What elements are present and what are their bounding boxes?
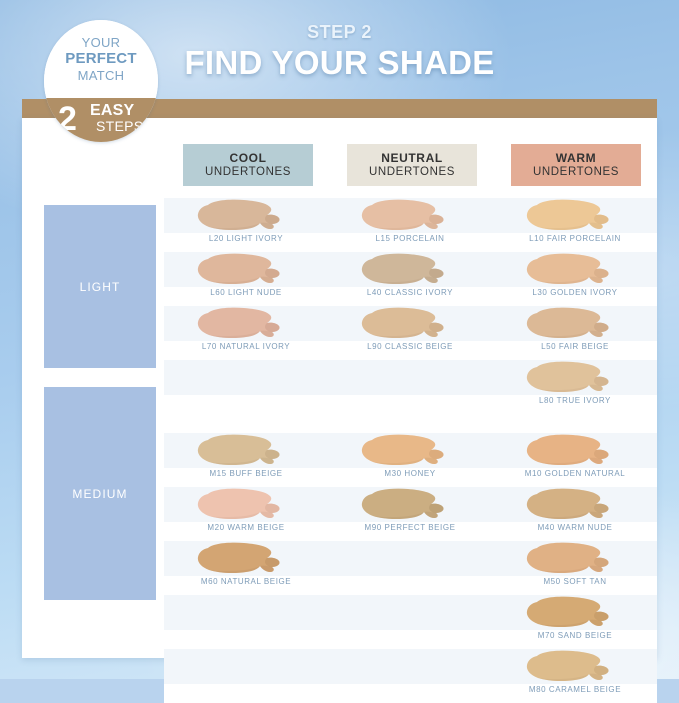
shade-cell[interactable]: M80 CARAMEL BEIGE [493,649,657,703]
foundation-swatch-icon [360,488,456,522]
shade-cell[interactable]: L80 TRUE IVORY [493,360,657,414]
badge-line-steps: STEPS [96,118,143,134]
foundation-swatch-icon [360,253,456,287]
shade-row: L80 TRUE IVORY [164,360,657,414]
shade-cell[interactable]: M30 HONEY [328,433,492,487]
shade-cell[interactable]: M40 WARM NUDE [493,487,657,541]
column-header-subtitle: UNDERTONES [369,165,455,179]
column-header-neutral: NEUTRALUNDERTONES [347,144,477,186]
shade-name-label: L70 NATURAL IVORY [164,342,328,351]
shade-cell[interactable]: L90 CLASSIC BEIGE [328,306,492,360]
foundation-swatch-icon [196,307,292,341]
shade-cell[interactable]: L20 LIGHT IVORY [164,198,328,252]
shade-name-label: M15 BUFF BEIGE [164,469,328,478]
column-header-subtitle: UNDERTONES [205,165,291,179]
tone-group-label: MEDIUM [72,487,127,501]
shade-name-label: M20 WARM BEIGE [164,523,328,532]
shade-cell[interactable]: L70 NATURAL IVORY [164,306,328,360]
foundation-swatch-icon [525,253,621,287]
foundation-swatch-icon [525,488,621,522]
shade-cell[interactable]: M50 SOFT TAN [493,541,657,595]
foundation-swatch-icon [196,434,292,468]
shade-row: M20 WARM BEIGEM90 PERFECT BEIGEM40 WARM … [164,487,657,541]
foundation-swatch-icon [525,361,621,395]
shade-name-label: M50 SOFT TAN [493,577,657,586]
shade-cell[interactable]: L40 CLASSIC IVORY [328,252,492,306]
foundation-swatch-icon [525,307,621,341]
column-header-cool: COOLUNDERTONES [183,144,313,186]
shade-name-label: M30 HONEY [328,469,492,478]
shade-name-label: L40 CLASSIC IVORY [328,288,492,297]
foundation-swatch-icon [196,199,292,233]
column-header-title: COOL [229,151,266,165]
your-perfect-match-badge: YOUR PERFECT MATCH 2 EASY STEPS [44,20,158,142]
shade-row: L60 LIGHT NUDEL40 CLASSIC IVORYL30 GOLDE… [164,252,657,306]
foundation-swatch-icon [525,434,621,468]
shade-cell[interactable]: M60 NATURAL BEIGE [164,541,328,595]
shade-name-label: M60 NATURAL BEIGE [164,577,328,586]
shade-name-label: L15 PORCELAIN [328,234,492,243]
tone-group-medium: MEDIUM [44,387,156,600]
shade-row: M15 BUFF BEIGEM30 HONEYM10 GOLDEN NATURA… [164,433,657,487]
shade-row: L20 LIGHT IVORYL15 PORCELAINL10 FAIR POR… [164,198,657,252]
shade-name-label: M40 WARM NUDE [493,523,657,532]
foundation-swatch-icon [525,199,621,233]
shade-cell[interactable]: M90 PERFECT BEIGE [328,487,492,541]
foundation-swatch-icon [360,199,456,233]
foundation-swatch-icon [360,434,456,468]
foundation-swatch-icon [196,253,292,287]
foundation-swatch-icon [360,307,456,341]
shade-row: L70 NATURAL IVORYL90 CLASSIC BEIGEL50 FA… [164,306,657,360]
shade-cell[interactable]: M20 WARM BEIGE [164,487,328,541]
badge-line-your: YOUR [44,35,158,50]
badge-step-number: 2 [58,99,77,139]
column-header-subtitle: UNDERTONES [533,165,619,179]
shade-row: M80 CARAMEL BEIGE [164,649,657,703]
shade-name-label: L30 GOLDEN IVORY [493,288,657,297]
column-header-title: WARM [556,151,596,165]
shade-name-label: M10 GOLDEN NATURAL [493,469,657,478]
shade-name-label: L80 TRUE IVORY [493,396,657,405]
shade-name-label: M70 SAND BEIGE [493,631,657,640]
shade-name-label: L10 FAIR PORCELAIN [493,234,657,243]
foundation-swatch-icon [525,596,621,630]
tone-group-label: LIGHT [80,280,121,294]
shade-cell[interactable]: L50 FAIR BEIGE [493,306,657,360]
shade-cell[interactable]: M70 SAND BEIGE [493,595,657,649]
shade-cell[interactable]: L10 FAIR PORCELAIN [493,198,657,252]
tone-group-light: LIGHT [44,205,156,368]
shade-name-label: L90 CLASSIC BEIGE [328,342,492,351]
shade-cell[interactable]: L30 GOLDEN IVORY [493,252,657,306]
shade-row: M70 SAND BEIGE [164,595,657,649]
shade-name-label: L20 LIGHT IVORY [164,234,328,243]
shade-name-label: M80 CARAMEL BEIGE [493,685,657,694]
shade-cell[interactable]: M15 BUFF BEIGE [164,433,328,487]
badge-line-perfect: PERFECT [44,50,158,67]
column-headers: COOLUNDERTONESNEUTRALUNDERTONESWARMUNDER… [22,144,657,186]
badge-line-match: MATCH [44,68,158,83]
shade-cell[interactable]: M10 GOLDEN NATURAL [493,433,657,487]
shade-cell[interactable]: L60 LIGHT NUDE [164,252,328,306]
foundation-swatch-icon [196,488,292,522]
shade-name-label: L60 LIGHT NUDE [164,288,328,297]
shade-chart-card: COOLUNDERTONESNEUTRALUNDERTONESWARMUNDER… [22,118,657,658]
foundation-swatch-icon [525,542,621,576]
shade-row: M60 NATURAL BEIGEM50 SOFT TAN [164,541,657,595]
shade-name-label: M90 PERFECT BEIGE [328,523,492,532]
column-header-title: NEUTRAL [381,151,443,165]
column-header-warm: WARMUNDERTONES [511,144,641,186]
shade-cell[interactable]: L15 PORCELAIN [328,198,492,252]
foundation-swatch-icon [196,542,292,576]
shade-name-label: L50 FAIR BEIGE [493,342,657,351]
